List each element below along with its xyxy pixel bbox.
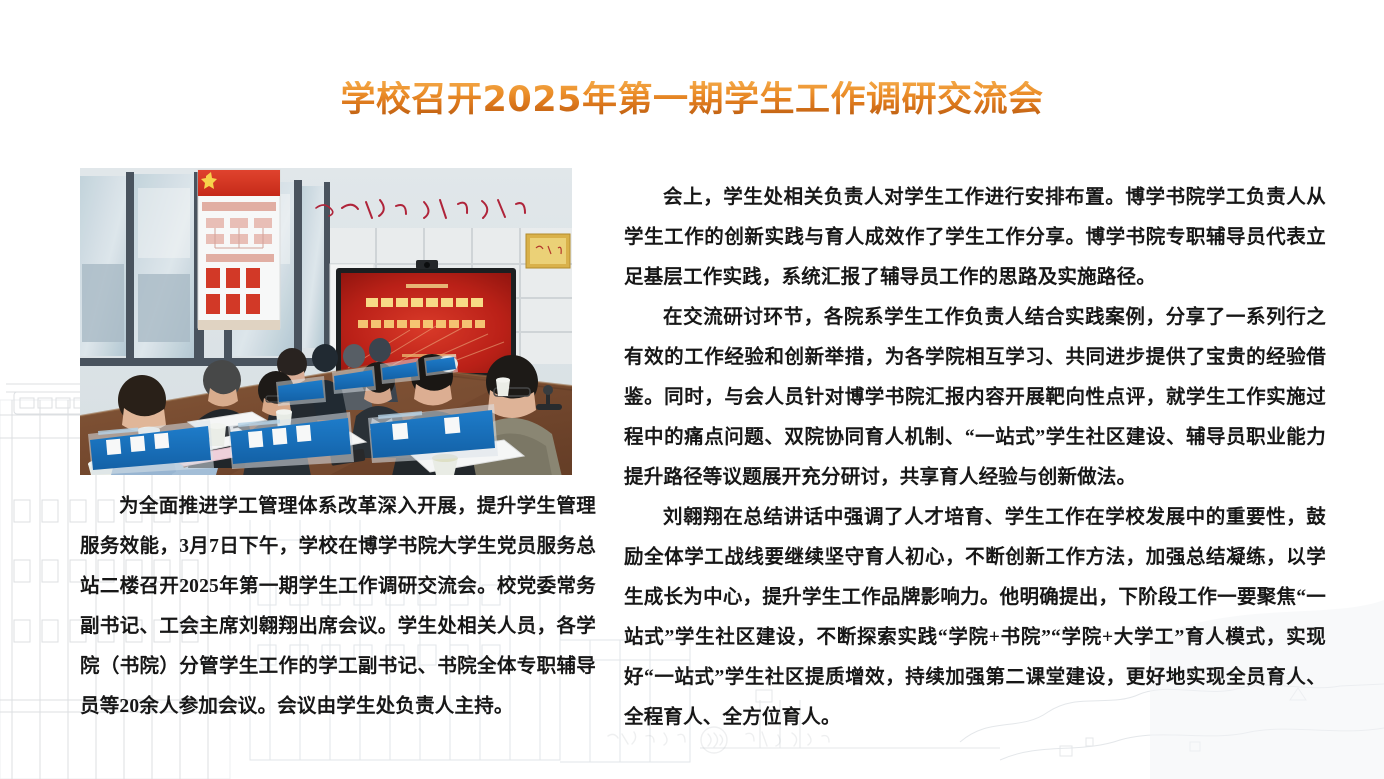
article-page: 学校召开2025年第一期学生工作调研交流会 — [0, 0, 1384, 779]
right-paragraph-3: 刘翱翔在总结讲话中强调了人才培育、学生工作在学校发展中的重要性，鼓励全体学工战线… — [624, 498, 1326, 738]
right-paragraph-2: 在交流研讨环节，各院系学生工作负责人结合实践案例，分享了一系列行之有效的工作经验… — [624, 298, 1326, 498]
right-column-text: 会上，学生处相关负责人对学生工作进行安排布置。博学书院学工负责人从学生工作的创新… — [624, 178, 1326, 738]
page-title-container: 学校召开2025年第一期学生工作调研交流会 — [0, 58, 1384, 143]
left-paragraph-1: 为全面推进学工管理体系改革深入开展，提升学生管理服务效能，3月7日下午，学校在博… — [80, 487, 596, 727]
meeting-photo — [80, 168, 572, 475]
page-title: 学校召开2025年第一期学生工作调研交流会 — [341, 81, 1044, 120]
left-column-text: 为全面推进学工管理体系改革深入开展，提升学生管理服务效能，3月7日下午，学校在博… — [80, 487, 596, 727]
right-paragraph-1: 会上，学生处相关负责人对学生工作进行安排布置。博学书院学工负责人从学生工作的创新… — [624, 178, 1326, 298]
